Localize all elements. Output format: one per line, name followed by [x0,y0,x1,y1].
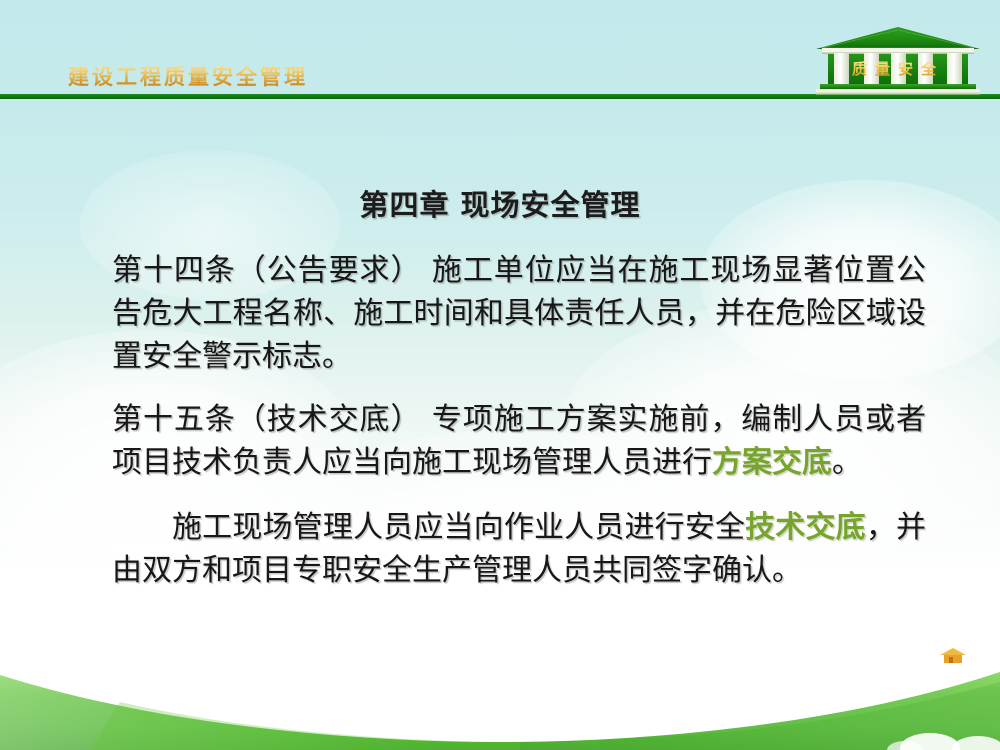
house-icon [940,648,966,663]
paragraph-article-14: 第十四条（公告要求） 施工单位应当在施工现场显著位置公告危大工程名称、施工时间和… [112,249,926,378]
presentation-slide: 建设工程质量安全管理 [0,0,1000,750]
highlighted-term: 技术交底 [745,510,866,545]
page-title: 第四章 现场安全管理 [0,182,1000,224]
body-text-run: 施工现场管理人员应当向作业人员进行安全 [172,510,745,545]
paragraph-article-15-second: 施工现场管理人员应当向作业人员进行安全技术交底，并由双方和项目专职安全生产管理人… [112,506,926,592]
grass-hill-decoration [0,630,1000,750]
highlighted-term: 方案交底 [712,445,832,480]
logo-text: 质量安全 [852,60,944,78]
temple-building-icon: 质量安全 [808,26,988,98]
paragraph-article-15: 第十五条（技术交底） 专项施工方案实施前，编制人员或者项目技术负责人应当向施工现… [112,398,926,484]
body-text-run: 。 [832,445,862,480]
header-title: 建设工程质量安全管理 [68,63,308,91]
slide-body: 第四章 现场安全管理 第十四条（公告要求） 施工单位应当在施工现场显著位置公告危… [0,120,1000,592]
body-text-run: 第十四条（公告要求） 施工单位应当在施工现场显著位置公告危大工程名称、施工时间和… [112,253,926,374]
